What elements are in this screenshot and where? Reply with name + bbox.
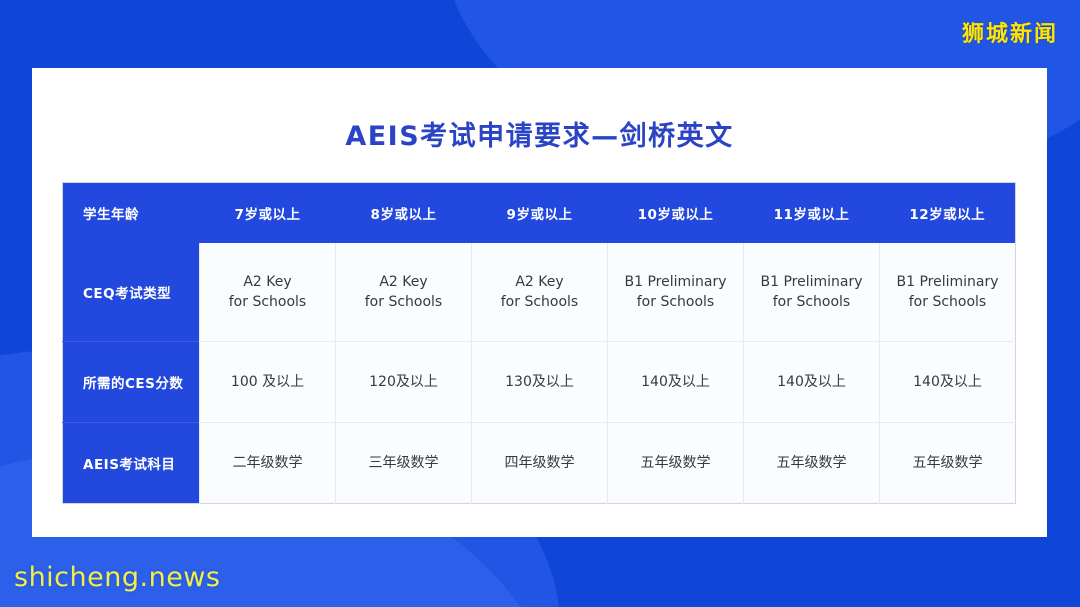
row-label-aeis-subject: AEIS考试科目 xyxy=(63,423,200,504)
cell-ceq-age12: B1 Preliminary for Schools xyxy=(880,243,1016,342)
requirements-table-wrapper: 学生年龄 7岁或以上 8岁或以上 9岁或以上 10岁或以上 11岁或以上 12岁… xyxy=(62,182,1016,504)
header-row-label: 学生年龄 xyxy=(63,183,200,244)
cell-line-2: for Schools xyxy=(773,294,850,310)
cell-line-2: for Schools xyxy=(501,294,578,310)
column-header-age-10: 10岁或以上 xyxy=(608,183,744,244)
page-title: AEIS考试申请要求—剑桥英文 xyxy=(32,68,1047,153)
cell-line-1: B1 Preliminary xyxy=(896,274,998,290)
cell-line-1: A2 Key xyxy=(243,274,291,290)
column-header-age-8: 8岁或以上 xyxy=(336,183,472,244)
cell-ceq-age8: A2 Key for Schools xyxy=(336,243,472,342)
column-header-age-11: 11岁或以上 xyxy=(744,183,880,244)
cell-ceq-age7: A2 Key for Schools xyxy=(200,243,336,342)
cell-ces-age7: 100 及以上 xyxy=(200,342,336,423)
table-row: CEQ考试类型 A2 Key for Schools A2 Key for Sc… xyxy=(63,243,1016,342)
site-watermark: shicheng.news xyxy=(14,562,220,593)
cell-subject-age8: 三年级数学 xyxy=(336,423,472,504)
cell-line-2: for Schools xyxy=(637,294,714,310)
cell-line-2: for Schools xyxy=(229,294,306,310)
table-row: AEIS考试科目 二年级数学 三年级数学 四年级数学 五年级数学 五年级数学 五… xyxy=(63,423,1016,504)
cell-subject-age9: 四年级数学 xyxy=(472,423,608,504)
table-row: 所需的CES分数 100 及以上 120及以上 130及以上 140及以上 14… xyxy=(63,342,1016,423)
cell-line-1: A2 Key xyxy=(515,274,563,290)
cell-line-1: B1 Preliminary xyxy=(624,274,726,290)
row-label-ceq-exam-type: CEQ考试类型 xyxy=(63,243,200,342)
brand-logo: 狮城新闻 xyxy=(962,16,1058,48)
cell-ceq-age10: B1 Preliminary for Schools xyxy=(608,243,744,342)
content-card: AEIS考试申请要求—剑桥英文 学生年龄 7岁或以上 8岁或以上 9岁或以上 1… xyxy=(32,68,1047,537)
cell-subject-age12: 五年级数学 xyxy=(880,423,1016,504)
cell-ces-age9: 130及以上 xyxy=(472,342,608,423)
slide-canvas: 狮城新闻 AEIS考试申请要求—剑桥英文 学生年龄 7岁或以上 8岁或以上 9岁… xyxy=(0,0,1080,607)
column-header-age-9: 9岁或以上 xyxy=(472,183,608,244)
cell-subject-age7: 二年级数学 xyxy=(200,423,336,504)
cell-ceq-age11: B1 Preliminary for Schools xyxy=(744,243,880,342)
cell-ceq-age9: A2 Key for Schools xyxy=(472,243,608,342)
table-header-row: 学生年龄 7岁或以上 8岁或以上 9岁或以上 10岁或以上 11岁或以上 12岁… xyxy=(63,183,1016,244)
cell-ces-age12: 140及以上 xyxy=(880,342,1016,423)
cell-subject-age11: 五年级数学 xyxy=(744,423,880,504)
requirements-table: 学生年龄 7岁或以上 8岁或以上 9岁或以上 10岁或以上 11岁或以上 12岁… xyxy=(62,182,1016,504)
row-label-required-ces-score: 所需的CES分数 xyxy=(63,342,200,423)
column-header-age-12: 12岁或以上 xyxy=(880,183,1016,244)
cell-line-1: B1 Preliminary xyxy=(760,274,862,290)
cell-line-1: A2 Key xyxy=(379,274,427,290)
cell-ces-age11: 140及以上 xyxy=(744,342,880,423)
cell-line-2: for Schools xyxy=(909,294,986,310)
column-header-age-7: 7岁或以上 xyxy=(200,183,336,244)
cell-subject-age10: 五年级数学 xyxy=(608,423,744,504)
cell-line-2: for Schools xyxy=(365,294,442,310)
cell-ces-age10: 140及以上 xyxy=(608,342,744,423)
cell-ces-age8: 120及以上 xyxy=(336,342,472,423)
